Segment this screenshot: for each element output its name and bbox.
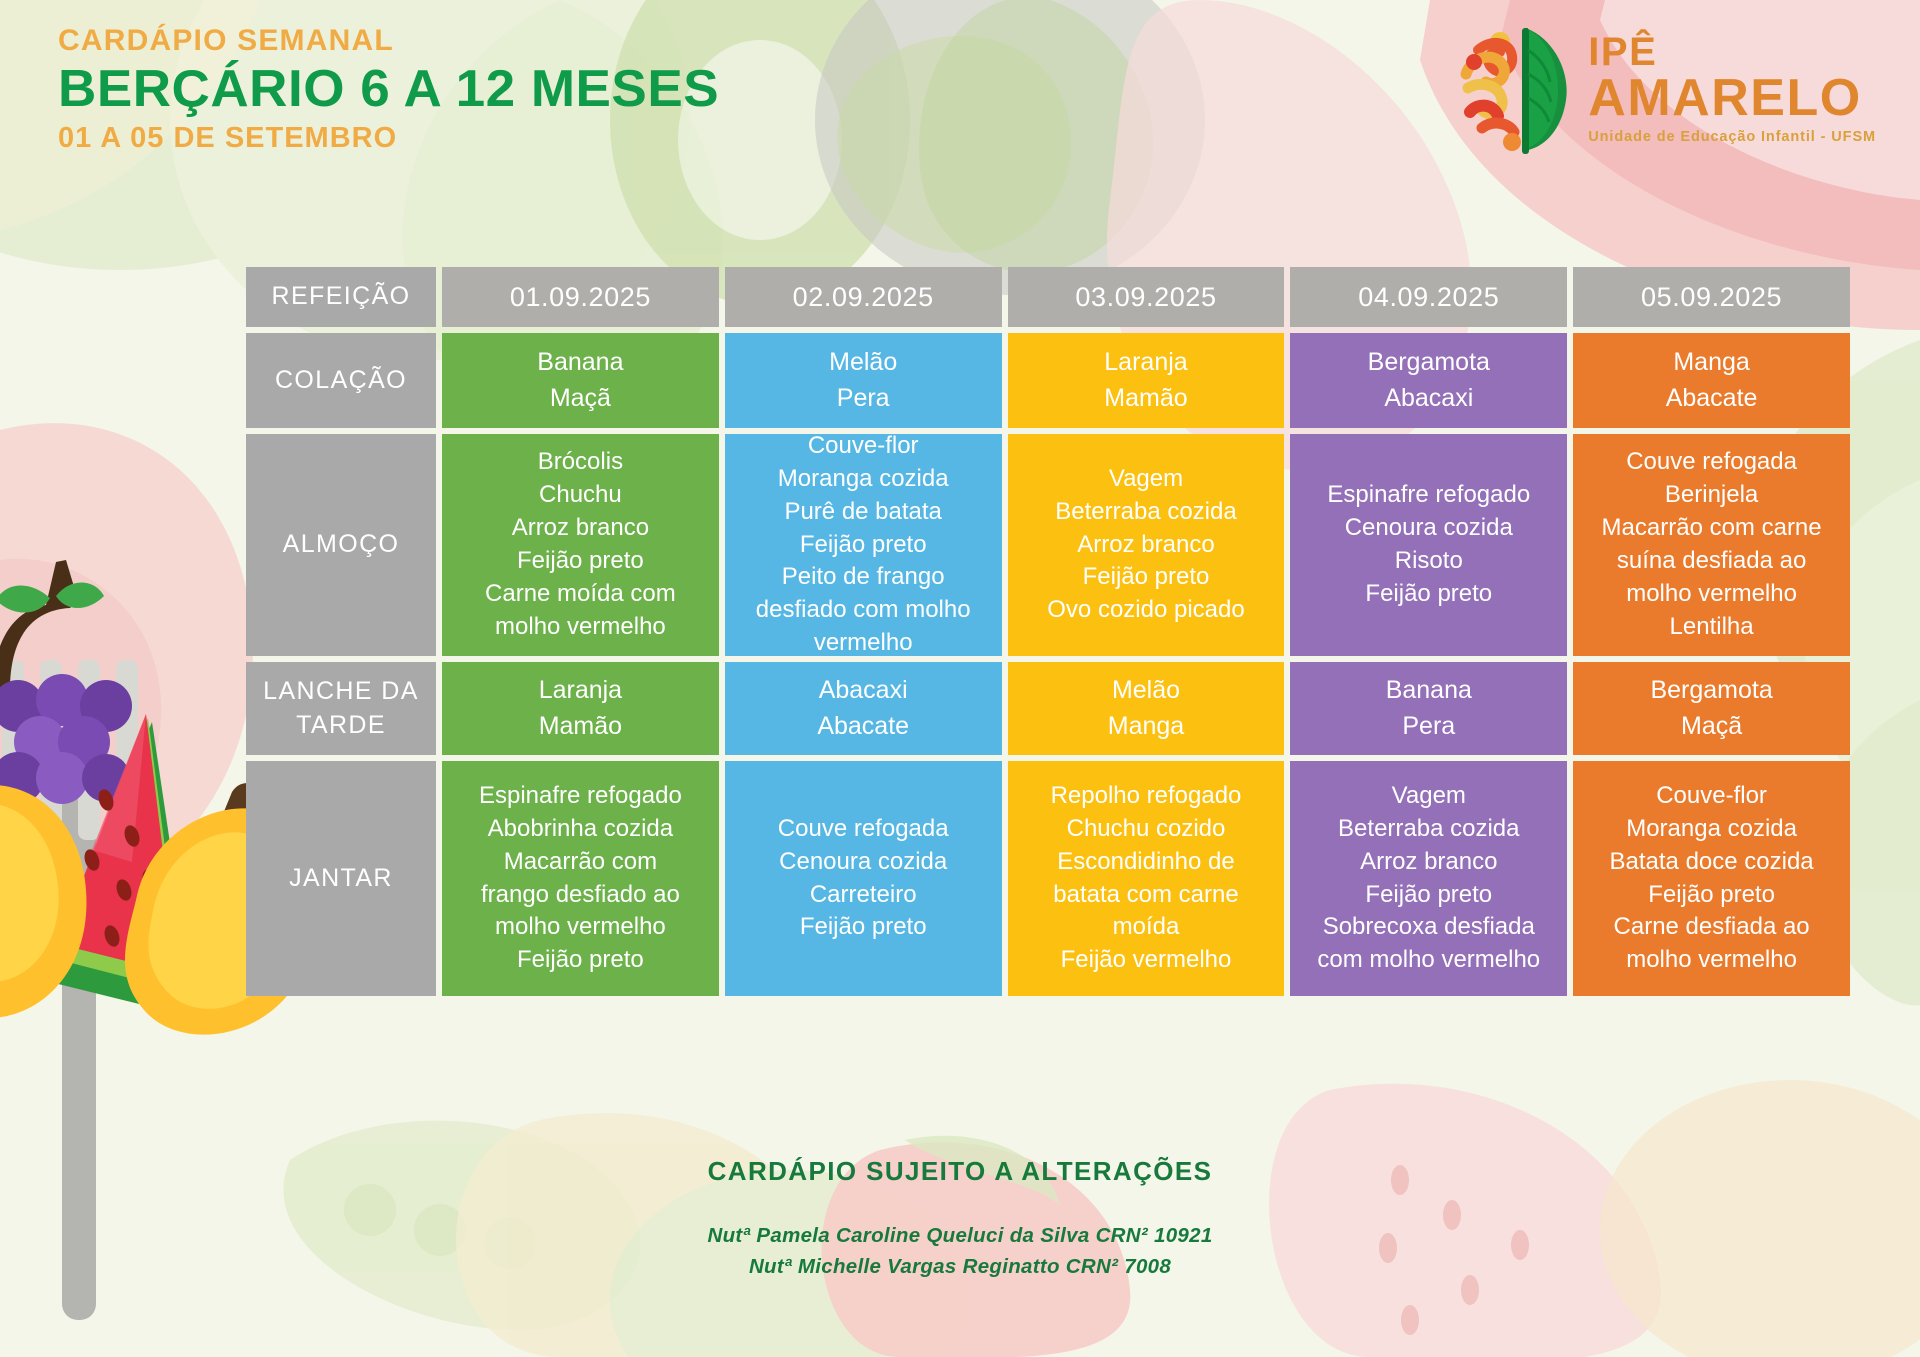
logo-wordmark: IPÊ AMARELO Unidade de Educação Infantil… [1588, 27, 1876, 144]
menu-item-line: Purê de batata [756, 496, 971, 529]
menu-item-line: Abacate [1666, 381, 1758, 417]
menu-item-line: com molho vermelho [1317, 944, 1540, 977]
menu-item-line: Maçã [1650, 709, 1772, 745]
menu-item-line: molho vermelho [485, 611, 676, 644]
signature-line: Nutª Michelle Vargas Reginatto CRN² 7008 [0, 1252, 1920, 1283]
menu-item-line: molho vermelho [1610, 944, 1814, 977]
menu-item-line: Feijão vermelho [1051, 944, 1242, 977]
menu-item-line: Feijão preto [1047, 561, 1244, 594]
menu-cell-r3-c0: Espinafre refogadoAbobrinha cozidaMacarr… [442, 761, 719, 996]
pink-blob-left [0, 423, 253, 903]
menu-item-line: Abacaxi [817, 673, 909, 709]
table-row: JANTAREspinafre refogadoAbobrinha cozida… [246, 761, 1850, 996]
header-day-2: 02.09.2025 [725, 267, 1002, 327]
menu-item-line: Feijão preto [485, 545, 676, 578]
meal-label-2: LANCHE DA TARDE [246, 662, 436, 755]
menu-item-line: molho vermelho [1602, 578, 1822, 611]
menu-cell-r2-c1: AbacaxiAbacate [725, 662, 1002, 755]
menu-item-line: Carne desfiada ao [1610, 911, 1814, 944]
menu-item-line: vermelho [756, 627, 971, 660]
grey-blob [815, 0, 1205, 295]
menu-item-line: Lentilha [1602, 611, 1822, 644]
menu-cell-r3-c4: Couve-florMoranga cozidaBatata doce cozi… [1573, 761, 1850, 996]
watermelon-slice-icon [42, 714, 196, 1018]
header-day-5: 05.09.2025 [1573, 267, 1850, 327]
menu-item-line: Carne moída com [485, 578, 676, 611]
menu-item-list: VagemBeterraba cozidaArroz brancoFeijão … [1317, 780, 1540, 977]
menu-item-line: Abobrinha cozida [479, 813, 682, 846]
menu-item-line: moída [1051, 911, 1242, 944]
weekly-menu-table: REFEIÇÃO01.09.202502.09.202503.09.202504… [246, 267, 1850, 996]
table-row: LANCHE DA TARDELaranjaMamãoAbacaxiAbacat… [246, 662, 1850, 755]
menu-cell-r2-c3: BananaPera [1290, 662, 1567, 755]
menu-item-line: Maçã [537, 381, 623, 417]
header-kicker: CARDÁPIO SEMANAL [58, 22, 706, 60]
menu-item-list: Espinafre refogadoAbobrinha cozidaMacarr… [479, 780, 682, 977]
poster-header: CARDÁPIO SEMANAL BERÇÁRIO 6 A 12 MESES 0… [58, 22, 706, 156]
menu-item-line: Manga [1666, 345, 1758, 381]
menu-item-line: Mamão [1104, 381, 1187, 417]
menu-cell-r1-c0: BrócolisChuchuArroz brancoFeijão pretoCa… [442, 434, 719, 656]
header-meal-label: REFEIÇÃO [246, 267, 436, 327]
brand-logo: IPÊ AMARELO Unidade de Educação Infantil… [1448, 16, 1876, 156]
menu-item-line: Laranja [539, 673, 622, 709]
logo-line-1: IPÊ [1588, 33, 1876, 72]
header-day-1: 01.09.2025 [442, 267, 719, 327]
menu-cell-r0-c0: BananaMaçã [442, 333, 719, 428]
menu-item-line: suína desfiada ao [1602, 545, 1822, 578]
menu-item-line: Carreteiro [778, 879, 949, 912]
menu-disclaimer: CARDÁPIO SUJEITO A ALTERAÇÕES [0, 1156, 1920, 1187]
menu-item-line: Vagem [1317, 780, 1540, 813]
menu-item-line: Chuchu [485, 479, 676, 512]
menu-item-list: BergamotaMaçã [1650, 673, 1772, 744]
menu-item-list: MelãoPera [829, 345, 897, 416]
menu-item-line: Mamão [539, 709, 622, 745]
menu-item-line: Chuchu cozido [1051, 813, 1242, 846]
menu-item-line: molho vermelho [479, 911, 682, 944]
menu-cell-r2-c0: LaranjaMamão [442, 662, 719, 755]
menu-item-line: Couve refogada [1602, 446, 1822, 479]
menu-item-list: Couve-florMoranga cozidaPurê de batataFe… [756, 430, 971, 660]
table-header-row: REFEIÇÃO01.09.202502.09.202503.09.202504… [246, 267, 1850, 327]
menu-item-line: Abacaxi [1368, 381, 1490, 417]
menu-cell-r1-c3: Espinafre refogadoCenoura cozidaRisotoFe… [1290, 434, 1567, 656]
menu-item-line: Feijão preto [778, 911, 949, 944]
menu-cell-r0-c2: LaranjaMamão [1008, 333, 1285, 428]
menu-item-line: Laranja [1104, 345, 1187, 381]
nutritionist-signatures: Nutª Pamela Caroline Queluci da Silva CR… [0, 1221, 1920, 1283]
grapes-icon [0, 560, 132, 804]
menu-item-line: Cenoura cozida [778, 846, 949, 879]
menu-item-line: Repolho refogado [1051, 780, 1242, 813]
menu-item-list: Couve-florMoranga cozidaBatata doce cozi… [1610, 780, 1814, 977]
menu-item-line: Ovo cozido picado [1047, 594, 1244, 627]
leaf-shapes [837, 0, 1153, 273]
meal-label-3: JANTAR [246, 761, 436, 996]
menu-item-line: Moranga cozida [1610, 813, 1814, 846]
header-day-3: 03.09.2025 [1008, 267, 1285, 327]
menu-item-list: VagemBeterraba cozidaArroz brancoFeijão … [1047, 463, 1244, 627]
menu-item-line: Beterraba cozida [1317, 813, 1540, 846]
menu-item-line: batata com carne [1051, 879, 1242, 912]
menu-item-line: Arroz branco [1047, 529, 1244, 562]
header-date-range: 01 A 05 DE SETEMBRO [58, 120, 706, 156]
menu-item-line: Couve-flor [756, 430, 971, 463]
menu-cell-r3-c2: Repolho refogadoChuchu cozidoEscondidinh… [1008, 761, 1285, 996]
menu-item-list: LaranjaMamão [539, 673, 622, 744]
menu-item-list: Repolho refogadoChuchu cozidoEscondidinh… [1051, 780, 1242, 977]
mango-icon [0, 785, 86, 1018]
menu-item-line: Pera [1386, 709, 1472, 745]
menu-item-line: Couve refogada [778, 813, 949, 846]
menu-item-line: Espinafre refogado [1327, 479, 1530, 512]
menu-item-list: LaranjaMamão [1104, 345, 1187, 416]
menu-item-line: Moranga cozida [756, 463, 971, 496]
menu-item-line: desfiado com molho [756, 594, 971, 627]
menu-item-list: Espinafre refogadoCenoura cozidaRisotoFe… [1327, 479, 1530, 611]
menu-item-line: frango desfiado ao [479, 879, 682, 912]
menu-item-line: Macarrão com [479, 846, 682, 879]
menu-item-line: Macarrão com carne [1602, 512, 1822, 545]
menu-item-line: Beterraba cozida [1047, 496, 1244, 529]
menu-item-line: Feijão preto [1317, 879, 1540, 912]
signature-line: Nutª Pamela Caroline Queluci da Silva CR… [0, 1221, 1920, 1252]
menu-item-line: Berinjela [1602, 479, 1822, 512]
menu-item-line: Banana [1386, 673, 1472, 709]
menu-item-line: Bergamota [1368, 345, 1490, 381]
menu-item-list: Couve refogadaBerinjelaMacarrão com carn… [1602, 446, 1822, 643]
table-row: ALMOÇOBrócolisChuchuArroz brancoFeijão p… [246, 434, 1850, 656]
menu-item-line: Arroz branco [485, 512, 676, 545]
menu-item-line: Feijão preto [1327, 578, 1530, 611]
menu-item-line: Manga [1108, 709, 1184, 745]
menu-item-line: Bergamota [1650, 673, 1772, 709]
leaf-sun-icon [1448, 16, 1576, 156]
menu-cell-r1-c4: Couve refogadaBerinjelaMacarrão com carn… [1573, 434, 1850, 656]
menu-cell-r2-c2: MelãoManga [1008, 662, 1285, 755]
menu-item-line: Vagem [1047, 463, 1244, 496]
menu-cell-r3-c1: Couve refogadaCenoura cozidaCarreteiroFe… [725, 761, 1002, 996]
menu-cell-r1-c1: Couve-florMoranga cozidaPurê de batataFe… [725, 434, 1002, 656]
menu-item-list: BananaMaçã [537, 345, 623, 416]
menu-item-line: Cenoura cozida [1327, 512, 1530, 545]
menu-item-line: Pera [829, 381, 897, 417]
menu-item-list: BergamotaAbacaxi [1368, 345, 1490, 416]
menu-item-line: Risoto [1327, 545, 1530, 578]
menu-item-line: Melão [829, 345, 897, 381]
menu-item-line: Peito de frango [756, 561, 971, 594]
logo-line-2: AMARELO [1588, 73, 1876, 124]
menu-item-line: Escondidinho de [1051, 846, 1242, 879]
menu-cell-r3-c3: VagemBeterraba cozidaArroz brancoFeijão … [1290, 761, 1567, 996]
menu-item-list: BananaPera [1386, 673, 1472, 744]
menu-item-list: AbacaxiAbacate [817, 673, 909, 744]
menu-cell-r1-c2: VagemBeterraba cozidaArroz brancoFeijão … [1008, 434, 1285, 656]
menu-item-line: Brócolis [485, 446, 676, 479]
menu-item-line: Melão [1108, 673, 1184, 709]
menu-item-line: Abacate [817, 709, 909, 745]
menu-item-line: Banana [537, 345, 623, 381]
page-title: BERÇÁRIO 6 A 12 MESES [58, 62, 719, 117]
menu-cell-r0-c3: BergamotaAbacaxi [1290, 333, 1567, 428]
menu-item-list: Couve refogadaCenoura cozidaCarreteiroFe… [778, 813, 949, 945]
menu-item-line: Batata doce cozida [1610, 846, 1814, 879]
meal-label-1: ALMOÇO [246, 434, 436, 656]
menu-item-line: Arroz branco [1317, 846, 1540, 879]
menu-item-list: MelãoManga [1108, 673, 1184, 744]
menu-item-line: Couve-flor [1610, 780, 1814, 813]
menu-cell-r2-c4: BergamotaMaçã [1573, 662, 1850, 755]
menu-item-line: Sobrecoxa desfiada [1317, 911, 1540, 944]
menu-item-line: Feijão preto [756, 529, 971, 562]
meal-label-0: COLAÇÃO [246, 333, 436, 428]
menu-item-list: BrócolisChuchuArroz brancoFeijão pretoCa… [485, 446, 676, 643]
menu-item-line: Espinafre refogado [479, 780, 682, 813]
menu-item-list: MangaAbacate [1666, 345, 1758, 416]
menu-item-line: Feijão preto [479, 944, 682, 977]
menu-item-line: Feijão preto [1610, 879, 1814, 912]
logo-tagline: Unidade de Educação Infantil - UFSM [1588, 129, 1876, 145]
header-day-4: 04.09.2025 [1290, 267, 1567, 327]
menu-cell-r0-c4: MangaAbacate [1573, 333, 1850, 428]
table-row: COLAÇÃOBananaMaçãMelãoPeraLaranjaMamãoBe… [246, 333, 1850, 428]
menu-cell-r0-c1: MelãoPera [725, 333, 1002, 428]
poster-footer: CARDÁPIO SUJEITO A ALTERAÇÕES Nutª Pamel… [0, 1156, 1920, 1283]
